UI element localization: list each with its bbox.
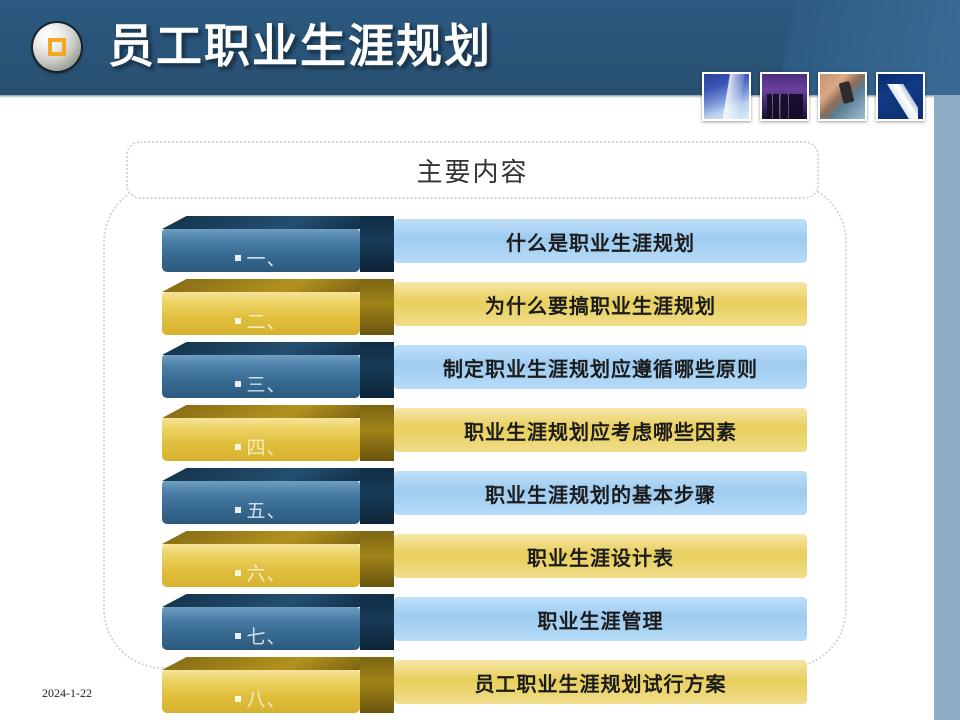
square-bullet-icon xyxy=(235,507,241,513)
agenda-number-label-7: 七、 xyxy=(235,622,286,649)
agenda-row-5[interactable]: 五、 职业生涯规划的基本步骤 xyxy=(162,468,807,524)
agenda-row-2[interactable]: 二、 为什么要搞职业生涯规划 xyxy=(162,279,807,335)
agenda-number-label-5: 五、 xyxy=(235,496,286,523)
block-side-face xyxy=(360,531,394,587)
agenda-label-5[interactable]: 职业生涯规划的基本步骤 xyxy=(394,471,807,515)
square-bullet-icon xyxy=(235,570,241,576)
agenda-number-text-6: 六、 xyxy=(246,559,286,586)
agenda-row-6[interactable]: 六、 职业生涯设计表 xyxy=(162,531,807,587)
block-top-face xyxy=(162,657,384,670)
square-bullet-icon xyxy=(235,633,241,639)
right-edge-accent-bar xyxy=(934,95,960,720)
agenda-row-1[interactable]: 一、 什么是职业生涯规划 xyxy=(162,216,807,272)
agenda-number-block-3: 三、 xyxy=(162,342,394,398)
block-front-face: 一、 xyxy=(162,229,360,272)
block-side-face xyxy=(360,594,394,650)
square-bullet-icon xyxy=(235,381,241,387)
modern-tower-photo xyxy=(876,72,925,121)
agenda-label-7[interactable]: 职业生涯管理 xyxy=(394,597,807,641)
square-bullet-icon xyxy=(235,318,241,324)
block-side-face xyxy=(360,279,394,335)
orange-square-icon xyxy=(48,38,66,56)
agenda-label-2[interactable]: 为什么要搞职业生涯规划 xyxy=(394,282,807,326)
agenda-row-8[interactable]: 八、 员工职业生涯规划试行方案 xyxy=(162,657,807,713)
block-top-face xyxy=(162,468,384,481)
header-photo-strip xyxy=(702,72,925,121)
agenda-row-4[interactable]: 四、 职业生涯规划应考虑哪些因素 xyxy=(162,405,807,461)
agenda-label-8[interactable]: 员工职业生涯规划试行方案 xyxy=(394,660,807,704)
agenda-number-block-5: 五、 xyxy=(162,468,394,524)
agenda-number-block-4: 四、 xyxy=(162,405,394,461)
slide-header: 员工职业生涯规划 xyxy=(0,0,960,95)
agenda-number-text-5: 五、 xyxy=(246,496,286,523)
square-bullet-icon xyxy=(235,444,241,450)
agenda-number-block-1: 一、 xyxy=(162,216,394,272)
block-top-face xyxy=(162,531,384,544)
agenda-number-text-2: 二、 xyxy=(246,307,286,334)
block-top-face xyxy=(162,594,384,607)
page-title: 员工职业生涯规划 xyxy=(108,10,492,84)
block-side-face xyxy=(360,657,394,713)
block-front-face: 七、 xyxy=(162,607,360,650)
block-side-face xyxy=(360,216,394,272)
block-front-face: 三、 xyxy=(162,355,360,398)
block-side-face xyxy=(360,342,394,398)
agenda-label-1[interactable]: 什么是职业生涯规划 xyxy=(394,219,807,263)
agenda-row-7[interactable]: 七、 职业生涯管理 xyxy=(162,594,807,650)
agenda-number-text-1: 一、 xyxy=(246,244,286,271)
block-top-face xyxy=(162,342,384,355)
section-title: 主要内容 xyxy=(416,152,528,189)
agenda-list: 一、 什么是职业生涯规划 二、 为什么要搞职业生涯规划 xyxy=(162,216,807,720)
agenda-number-block-8: 八、 xyxy=(162,657,394,713)
glass-skyscraper-photo xyxy=(702,72,751,121)
agenda-number-label-1: 一、 xyxy=(235,244,286,271)
agenda-number-block-6: 六、 xyxy=(162,531,394,587)
block-front-face: 六、 xyxy=(162,544,360,587)
agenda-number-label-4: 四、 xyxy=(235,433,286,460)
person-on-phone-photo xyxy=(818,72,867,121)
block-front-face: 五、 xyxy=(162,481,360,524)
agenda-number-label-2: 二、 xyxy=(235,307,286,334)
agenda-number-label-3: 三、 xyxy=(235,370,286,397)
agenda-number-text-4: 四、 xyxy=(246,433,286,460)
block-front-face: 四、 xyxy=(162,418,360,461)
agenda-row-3[interactable]: 三、 制定职业生涯规划应遵循哪些原则 xyxy=(162,342,807,398)
block-front-face: 二、 xyxy=(162,292,360,335)
brand-logo-icon xyxy=(33,23,81,71)
agenda-number-label-6: 六、 xyxy=(235,559,286,586)
block-top-face xyxy=(162,216,384,229)
agenda-label-3[interactable]: 制定职业生涯规划应遵循哪些原则 xyxy=(394,345,807,389)
agenda-number-text-3: 三、 xyxy=(246,370,286,397)
block-side-face xyxy=(360,468,394,524)
agenda-label-4[interactable]: 职业生涯规划应考虑哪些因素 xyxy=(394,408,807,452)
section-title-box: 主要内容 xyxy=(126,141,819,199)
agenda-label-6[interactable]: 职业生涯设计表 xyxy=(394,534,807,578)
agenda-number-text-7: 七、 xyxy=(246,622,286,649)
night-city-skyline-photo xyxy=(760,72,809,121)
block-top-face xyxy=(162,405,384,418)
agenda-number-block-7: 七、 xyxy=(162,594,394,650)
square-bullet-icon xyxy=(235,255,241,261)
block-side-face xyxy=(360,405,394,461)
agenda-number-block-2: 二、 xyxy=(162,279,394,335)
block-top-face xyxy=(162,279,384,292)
